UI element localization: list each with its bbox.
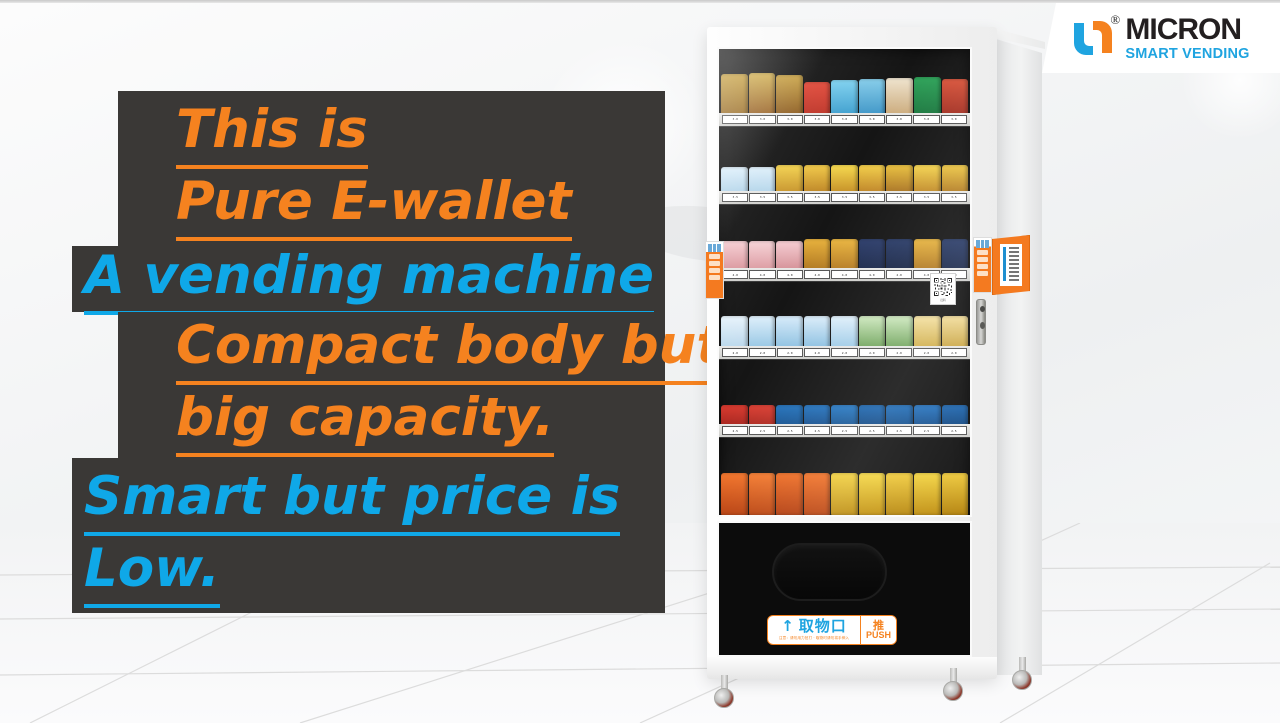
pickup-label-warning: 注意：请勿用力拍打 · 取物时请勿将手伸入	[779, 636, 849, 641]
pickup-panel: ↑ 取物口 注意：请勿用力拍打 · 取物时请勿将手伸入 推 PUSH	[717, 521, 972, 657]
caster-wheel	[714, 675, 734, 711]
price-tag[interactable]: 3.0	[722, 115, 748, 124]
price-tag[interactable]: 2.0	[749, 348, 775, 357]
price-tag[interactable]: 2.0	[831, 348, 857, 357]
pickup-label-chinese: 取物口	[799, 619, 847, 634]
machine-illustration-poster	[992, 235, 1030, 295]
promo-banner: This is Pure E-wallet A vending machine …	[0, 0, 1280, 723]
micron-un-logo-icon	[1072, 19, 1114, 57]
price-tag-rail: 3.5 3.5 3.5 3.5 3.5 3.5 3.5 3.5 3.5	[719, 191, 970, 204]
headline-line-7: Low.	[84, 536, 220, 608]
qr-caption: 扫码	[933, 298, 953, 302]
price-tag[interactable]: 2.0	[859, 348, 885, 357]
caster-wheel	[1012, 657, 1032, 693]
price-tag[interactable]: 3.5	[804, 193, 830, 202]
price-tag[interactable]: 3.5	[749, 193, 775, 202]
registered-trademark-icon: ®	[1110, 12, 1120, 28]
product-display-window: 3.0 3.0 3.0 3.0 3.0 3.0 3.0 3.0 3.0	[717, 47, 972, 517]
price-tag[interactable]: 3.5	[777, 193, 803, 202]
price-tag[interactable]: 4.0	[831, 270, 857, 279]
door-handle-lock[interactable]	[976, 299, 986, 345]
price-tag[interactable]: 4.0	[722, 270, 748, 279]
headline-line-4: Compact body but	[176, 313, 722, 385]
price-tag[interactable]: 3.0	[941, 115, 967, 124]
headline-band-4: Smart but price is Low.	[72, 458, 665, 613]
headline-band-1: This is Pure E-wallet	[118, 91, 665, 246]
pickup-label: ↑ 取物口 注意：请勿用力拍打 · 取物时请勿将手伸入 推 PUSH	[767, 615, 897, 645]
price-tag[interactable]: 2.5	[831, 426, 857, 435]
price-tag[interactable]: 2.5	[777, 426, 803, 435]
price-tag[interactable]: 2.0	[913, 348, 939, 357]
price-tag[interactable]: 3.5	[831, 193, 857, 202]
payment-qr-code[interactable]: 扫码	[930, 273, 956, 305]
snack-shelf: 3.0 3.0 3.0 3.0 3.0 3.0 3.0 3.0 3.0	[719, 49, 970, 127]
price-tag[interactable]: 4.0	[749, 270, 775, 279]
price-tag[interactable]: 3.5	[941, 193, 967, 202]
brand-logo: ® MICRON SMART VENDING	[1042, 3, 1280, 73]
vending-machine: 3.0 3.0 3.0 3.0 3.0 3.0 3.0 3.0 3.0	[700, 27, 1045, 687]
price-tag[interactable]: 3.0	[886, 115, 912, 124]
price-tag[interactable]: 3.5	[722, 193, 748, 202]
push-label-chinese: 推	[873, 620, 884, 631]
headline-line-5: big capacity.	[176, 385, 554, 457]
price-tag[interactable]: 2.5	[941, 426, 967, 435]
price-tag[interactable]: 4.0	[777, 270, 803, 279]
price-tag[interactable]: 2.5	[886, 426, 912, 435]
price-tag[interactable]: 3.5	[913, 193, 939, 202]
purchase-steps-sticker-right	[973, 237, 992, 293]
price-tag[interactable]: 3.0	[749, 115, 775, 124]
price-tag[interactable]: 2.5	[913, 426, 939, 435]
price-tag[interactable]: 2.5	[804, 426, 830, 435]
price-tag[interactable]: 2.5	[749, 426, 775, 435]
headline-band-3: Compact body but big capacity.	[118, 312, 665, 458]
price-tag[interactable]: 2.0	[941, 348, 967, 357]
price-tag[interactable]: 3.0	[831, 115, 857, 124]
price-tag[interactable]: 3.5	[859, 193, 885, 202]
up-arrow-icon: ↑	[781, 619, 794, 634]
price-tag[interactable]: 3.0	[859, 115, 885, 124]
price-tag[interactable]: 3.5	[886, 193, 912, 202]
price-tag[interactable]: 4.0	[859, 270, 885, 279]
headline-line-6: Smart but price is	[84, 464, 620, 536]
headline-line-3: A vending machine	[84, 243, 654, 315]
caster-wheel	[943, 668, 963, 704]
price-tag[interactable]: 2.0	[886, 348, 912, 357]
price-tag[interactable]: 3.0	[777, 115, 803, 124]
price-tag[interactable]: 3.0	[804, 115, 830, 124]
brand-tagline: SMART VENDING	[1125, 47, 1249, 62]
price-tag[interactable]: 2.0	[777, 348, 803, 357]
headline-line-1: This is	[176, 97, 368, 169]
cabinet-side-panel	[996, 39, 1042, 675]
headline-panel: This is Pure E-wallet A vending machine …	[0, 0, 700, 723]
bottled-drinks-shelf: 3.5 3.5 3.5 3.5 3.5 3.5 3.5 3.5 3.5	[719, 127, 970, 205]
purchase-steps-sticker-left	[705, 241, 724, 299]
price-tag-rail: 2.0 2.0 2.0 2.0 2.0 2.0 2.0 2.0 2.0	[719, 346, 970, 359]
price-tag[interactable]: 3.0	[913, 115, 939, 124]
brand-name: MICRON	[1125, 15, 1249, 45]
can-shelf-upper: 2.5 2.5 2.5 2.5 2.5 2.5 2.5 2.5 2.5	[719, 360, 970, 438]
price-tag[interactable]: 2.5	[722, 426, 748, 435]
can-shelf-lower	[719, 438, 970, 515]
price-tag-rail: 2.5 2.5 2.5 2.5 2.5 2.5 2.5 2.5 2.5	[719, 424, 970, 437]
juice-shelf: 4.0 4.0 4.0 4.0 4.0 4.0 4.0 4.0 4.0	[719, 205, 970, 283]
headline-line-2: Pure E-wallet	[176, 169, 572, 241]
push-label-english: PUSH	[866, 631, 891, 641]
price-tag[interactable]: 2.0	[722, 348, 748, 357]
headline-band-2: A vending machine	[72, 246, 665, 312]
price-tag[interactable]: 2.5	[859, 426, 885, 435]
pickup-door-flap[interactable]	[772, 543, 887, 601]
price-tag[interactable]: 2.0	[804, 348, 830, 357]
price-tag-rail: 3.0 3.0 3.0 3.0 3.0 3.0 3.0 3.0 3.0	[719, 113, 970, 126]
price-tag[interactable]: 4.0	[804, 270, 830, 279]
price-tag[interactable]: 4.0	[886, 270, 912, 279]
